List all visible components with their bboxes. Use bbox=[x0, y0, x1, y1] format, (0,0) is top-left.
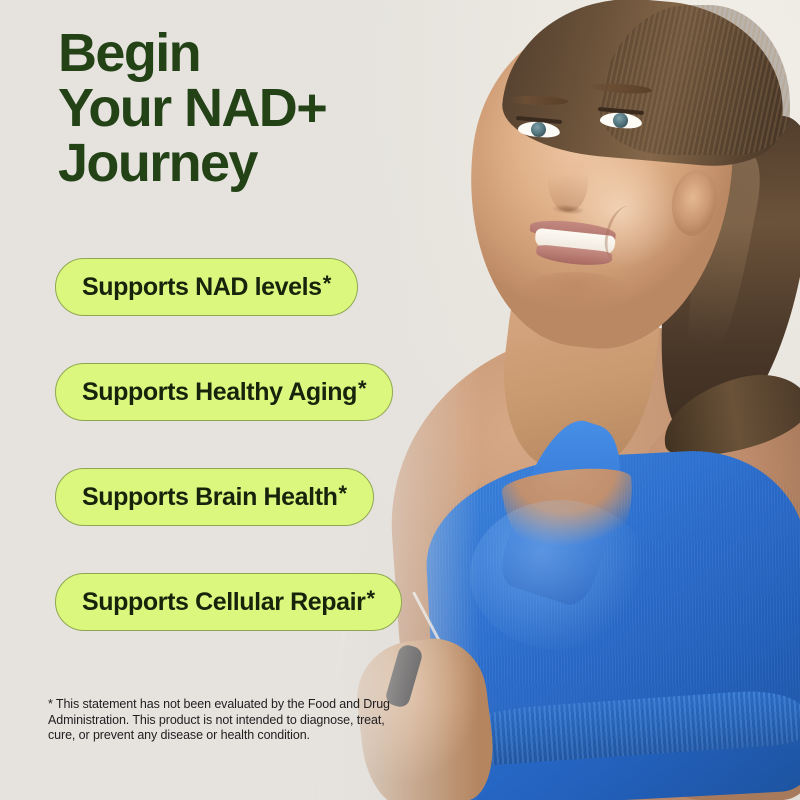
claims-list: Supports NAD levels* Supports Healthy Ag… bbox=[55, 258, 402, 631]
claim-label: Supports Brain Health bbox=[82, 483, 338, 512]
claim-pill-healthy-aging[interactable]: Supports Healthy Aging* bbox=[55, 363, 393, 421]
claim-label: Supports Cellular Repair bbox=[82, 588, 366, 617]
claim-asterisk: * bbox=[367, 588, 375, 610]
headline-line-3: Journey bbox=[58, 136, 326, 191]
ad-canvas: Begin Your NAD+ Journey Supports NAD lev… bbox=[0, 0, 800, 800]
headline-line-2: Your NAD+ bbox=[58, 81, 326, 136]
headline-line-1: Begin bbox=[58, 26, 326, 81]
claim-pill-cellular-repair[interactable]: Supports Cellular Repair* bbox=[55, 573, 402, 631]
content-layer: Begin Your NAD+ Journey Supports NAD lev… bbox=[0, 0, 800, 800]
claim-asterisk: * bbox=[323, 273, 331, 295]
claim-label: Supports Healthy Aging bbox=[82, 378, 357, 407]
claim-asterisk: * bbox=[358, 378, 366, 400]
legal-disclaimer: * This statement has not been evaluated … bbox=[48, 697, 413, 744]
claim-pill-nad-levels[interactable]: Supports NAD levels* bbox=[55, 258, 358, 316]
claim-label: Supports NAD levels bbox=[82, 273, 322, 302]
page-title: Begin Your NAD+ Journey bbox=[58, 26, 326, 191]
claim-pill-brain-health[interactable]: Supports Brain Health* bbox=[55, 468, 374, 526]
claim-asterisk: * bbox=[339, 483, 347, 505]
